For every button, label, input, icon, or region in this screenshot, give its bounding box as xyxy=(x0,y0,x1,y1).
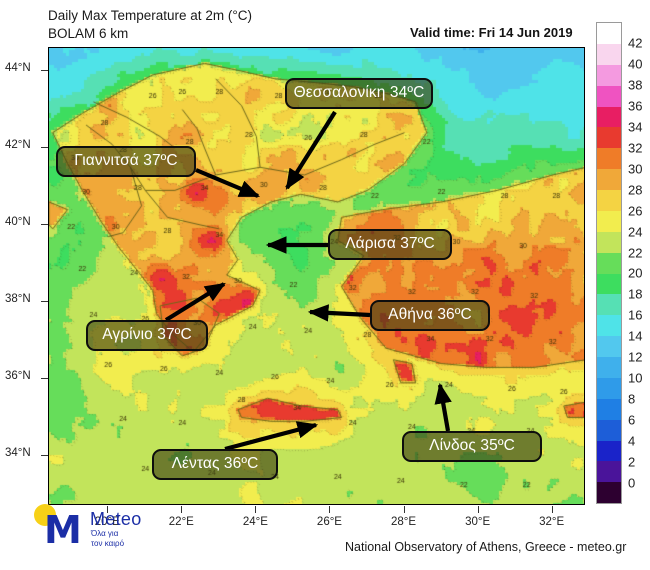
xtick-mark xyxy=(255,506,256,513)
ytick-label: 44°N xyxy=(5,62,31,74)
annotation-label-giannitsa[interactable]: Γιαννιτσά 37ºC xyxy=(56,146,196,177)
colorbar-tick-label: 22 xyxy=(628,245,642,260)
logo-tagline: Όλα για τον καιρό xyxy=(91,529,124,549)
xtick-label: 24°E xyxy=(243,516,268,528)
colorbar-cell xyxy=(597,44,621,65)
colorbar-cell xyxy=(597,378,621,399)
logo-name: Meteo xyxy=(90,509,142,530)
colorbar-tick-label: 14 xyxy=(628,329,642,344)
temperature-colorbar xyxy=(596,22,622,504)
annotation-label-lentas[interactable]: Λέντας 36ºC xyxy=(152,449,278,480)
colorbar-tick-label: 28 xyxy=(628,182,642,197)
colorbar-cell xyxy=(597,420,621,441)
title-line-2: BOLAM 6 km xyxy=(48,26,128,41)
weather-map-page: Daily Max Temperature at 2m (°C) BOLAM 6… xyxy=(0,0,650,570)
ytick-mark xyxy=(41,147,48,148)
ytick-label: 36°N xyxy=(5,370,31,382)
colorbar-cell xyxy=(597,65,621,86)
colorbar-tick-label: 26 xyxy=(628,203,642,218)
colorbar-tick-label: 12 xyxy=(628,350,642,365)
xtick-label: 28°E xyxy=(391,516,416,528)
annotation-label-thessaloniki[interactable]: Θεσσαλονίκη 34ºC xyxy=(285,78,433,109)
colorbar-tick-label: 8 xyxy=(628,392,635,407)
colorbar-cell xyxy=(597,232,621,253)
ytick-mark xyxy=(41,378,48,379)
xtick-label: 32°E xyxy=(539,516,564,528)
colorbar-cell xyxy=(597,357,621,378)
colorbar-tick-label: 20 xyxy=(628,266,642,281)
xtick-mark xyxy=(329,506,330,513)
colorbar-tick-label: 36 xyxy=(628,98,642,113)
annotation-label-athina[interactable]: Αθήνα 36ºC xyxy=(370,300,490,331)
colorbar-cell xyxy=(597,190,621,211)
colorbar-cell xyxy=(597,148,621,169)
annotation-label-agrinio[interactable]: Αγρίνιο 37ºC xyxy=(86,320,208,351)
colorbar-cell xyxy=(597,127,621,148)
colorbar-tick-label: 40 xyxy=(628,56,642,71)
colorbar-tick-label: 30 xyxy=(628,161,642,176)
colorbar-cell xyxy=(597,107,621,128)
meteo-logo[interactable]: M Meteo Όλα για τον καιρό xyxy=(34,503,174,549)
colorbar-tick-label: 38 xyxy=(628,77,642,92)
colorbar-tick-label: 42 xyxy=(628,35,642,50)
colorbar-tick-label: 18 xyxy=(628,287,642,302)
ytick-label: 34°N xyxy=(5,447,31,459)
ytick-label: 40°N xyxy=(5,216,31,228)
colorbar-cell xyxy=(597,336,621,357)
annotation-text: Θεσσαλονίκη 34ºC xyxy=(294,84,425,102)
colorbar-cell xyxy=(597,482,621,503)
colorbar-cell xyxy=(597,399,621,420)
colorbar-tick-label: 10 xyxy=(628,371,642,386)
colorbar-cell xyxy=(597,441,621,462)
attribution-label: National Observatory of Athens, Greece -… xyxy=(345,540,626,554)
ytick-mark xyxy=(41,224,48,225)
colorbar-tick-label: 0 xyxy=(628,476,635,491)
xtick-mark xyxy=(478,506,479,513)
ytick-label: 38°N xyxy=(5,293,31,305)
annotation-text: Λίνδος 35ºC xyxy=(429,437,515,455)
valid-time-label: Valid time: Fri 14 Jun 2019 xyxy=(410,25,573,40)
ytick-mark xyxy=(41,301,48,302)
annotation-text: Γιαννιτσά 37ºC xyxy=(74,152,177,170)
annotation-text: Αγρίνιο 37ºC xyxy=(102,326,192,344)
colorbar-cell xyxy=(597,23,621,44)
colorbar-tick-label: 34 xyxy=(628,119,642,134)
annotation-label-larisa[interactable]: Λάρισα 37ºC xyxy=(328,229,452,260)
colorbar-tick-label: 16 xyxy=(628,308,642,323)
colorbar-cell xyxy=(597,294,621,315)
logo-m-glyph: M xyxy=(44,511,82,549)
ytick-label: 42°N xyxy=(5,139,31,151)
colorbar-tick-label: 32 xyxy=(628,140,642,155)
colorbar-cell xyxy=(597,315,621,336)
colorbar-tick-label: 6 xyxy=(628,413,635,428)
ytick-mark xyxy=(41,455,48,456)
colorbar-cell xyxy=(597,253,621,274)
map-title: Daily Max Temperature at 2m (°C) BOLAM 6… xyxy=(48,7,252,43)
xtick-label: 30°E xyxy=(465,516,490,528)
xtick-mark xyxy=(181,506,182,513)
colorbar-tick-label: 2 xyxy=(628,455,635,470)
annotation-label-lindos[interactable]: Λίνδος 35ºC xyxy=(402,431,542,462)
xtick-mark xyxy=(404,506,405,513)
annotation-text: Λέντας 36ºC xyxy=(172,455,259,473)
colorbar-tick-label: 4 xyxy=(628,434,635,449)
ytick-mark xyxy=(41,70,48,71)
title-line-1: Daily Max Temperature at 2m (°C) xyxy=(48,8,252,23)
colorbar-cell xyxy=(597,169,621,190)
xtick-label: 26°E xyxy=(317,516,342,528)
colorbar-cell xyxy=(597,211,621,232)
colorbar-tick-label: 24 xyxy=(628,224,642,239)
annotation-text: Λάρισα 37ºC xyxy=(345,235,435,253)
annotation-text: Αθήνα 36ºC xyxy=(388,306,472,324)
colorbar-cell xyxy=(597,274,621,295)
colorbar-cell xyxy=(597,86,621,107)
xtick-mark xyxy=(552,506,553,513)
colorbar-cell xyxy=(597,461,621,482)
